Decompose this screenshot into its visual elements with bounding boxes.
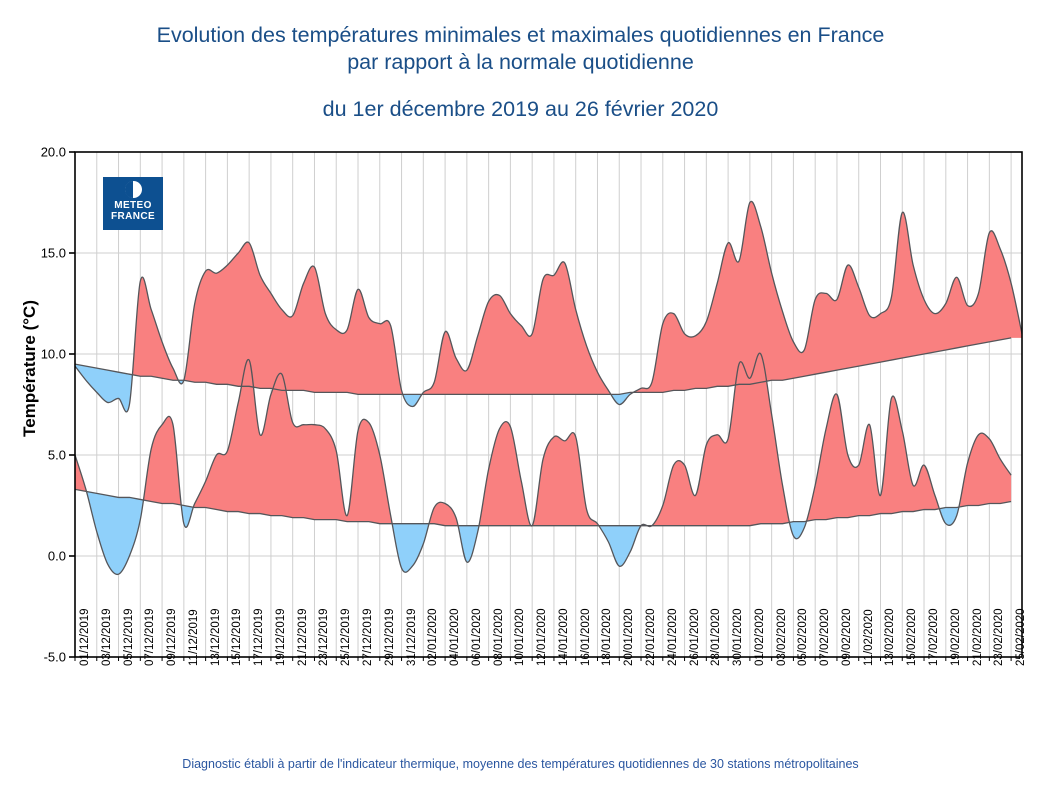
meteo-france-logo: METEO FRANCE: [103, 177, 163, 230]
x-tick-label: 07/02/2020: [819, 608, 831, 666]
x-tick-label: 23/12/2019: [318, 608, 330, 666]
x-tick-label: 06/01/2020: [471, 608, 483, 666]
x-tick-label: 24/01/2020: [667, 608, 679, 666]
x-tick-label: 02/01/2020: [427, 608, 439, 666]
x-tick-label: 31/12/2019: [406, 608, 418, 666]
x-tick-label: 29/12/2019: [384, 608, 396, 666]
x-tick-label: 27/12/2019: [362, 608, 374, 666]
x-tick-label: 23/02/2020: [993, 608, 1005, 666]
x-tick-label: 08/01/2020: [493, 608, 505, 666]
x-tick-label: 16/01/2020: [580, 608, 592, 666]
x-tick-label: 15/02/2020: [906, 608, 918, 666]
x-tick-label: 25/02/2020: [1015, 608, 1027, 666]
logo-text-meteo: METEO: [114, 200, 152, 211]
x-tick-label: 21/12/2019: [297, 608, 309, 666]
x-tick-label: 09/02/2020: [841, 608, 853, 666]
x-tick-label: 07/12/2019: [144, 608, 156, 666]
x-tick-label: 19/02/2020: [950, 608, 962, 666]
x-tick-label: 05/02/2020: [797, 608, 809, 666]
x-tick-label: 01/02/2020: [754, 608, 766, 666]
x-tick-label: 13/02/2020: [884, 608, 896, 666]
x-tick-label: 28/01/2020: [710, 608, 722, 666]
x-tick-label: 12/01/2020: [536, 608, 548, 666]
x-tick-label: 11/02/2020: [863, 609, 875, 666]
x-tick-label: 30/01/2020: [732, 608, 744, 666]
x-tick-label: 21/02/2020: [972, 608, 984, 666]
x-tick-label: 18/01/2020: [601, 608, 613, 666]
x-tick-label: 04/01/2020: [449, 608, 461, 666]
logo-text-france: FRANCE: [111, 211, 155, 222]
meteo-france-globe-icon: [125, 181, 142, 198]
x-tick-label: 01/12/2019: [79, 608, 91, 666]
x-tick-label: 17/02/2020: [928, 608, 940, 666]
x-tick-label: 22/01/2020: [645, 608, 657, 666]
x-tick-labels: 01/12/201903/12/201905/12/201907/12/2019…: [0, 0, 1041, 788]
x-tick-label: 03/12/2019: [101, 608, 113, 666]
x-tick-label: 26/01/2020: [689, 608, 701, 666]
x-tick-label: 05/12/2019: [123, 608, 135, 666]
x-tick-label: 11/12/2019: [188, 609, 200, 666]
x-tick-label: 14/01/2020: [558, 608, 570, 666]
x-tick-label: 03/02/2020: [776, 608, 788, 666]
x-tick-label: 13/12/2019: [210, 608, 222, 666]
x-tick-label: 25/12/2019: [340, 608, 352, 666]
x-tick-label: 15/12/2019: [231, 608, 243, 666]
x-tick-label: 10/01/2020: [514, 608, 526, 666]
x-tick-label: 17/12/2019: [253, 608, 265, 666]
x-tick-label: 09/12/2019: [166, 608, 178, 666]
footer-note: Diagnostic établi à partir de l'indicate…: [0, 757, 1041, 771]
x-tick-label: 20/01/2020: [623, 608, 635, 666]
x-tick-label: 19/12/2019: [275, 608, 287, 666]
